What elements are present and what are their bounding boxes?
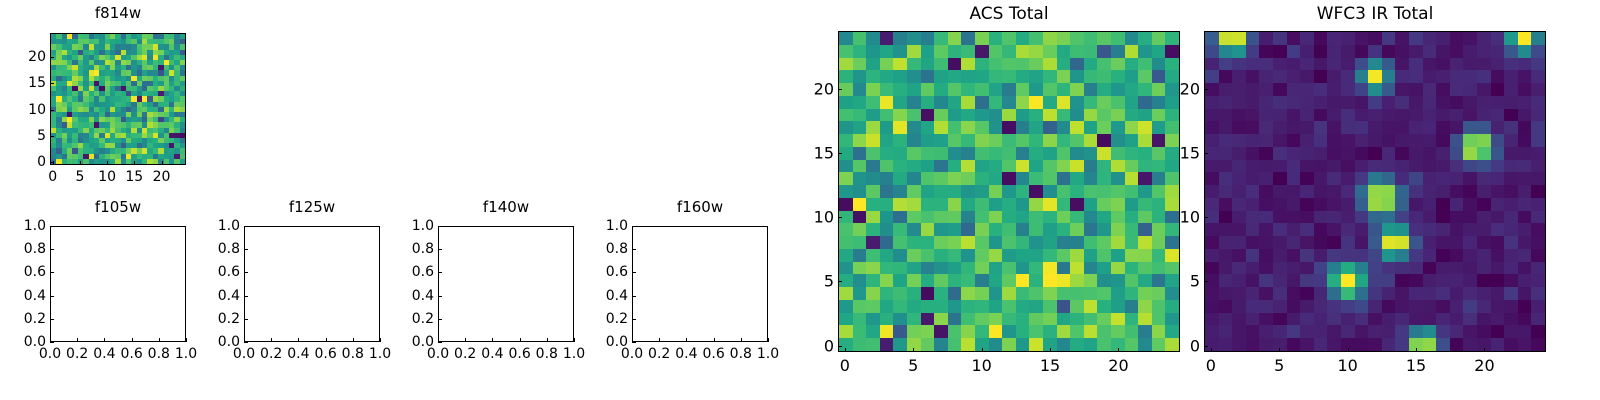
- heatmap-wfc3-total: [1205, 32, 1545, 351]
- axes-f140w: [438, 226, 574, 342]
- xtick-label: 20: [153, 169, 171, 185]
- ytick-label: 0.8: [8, 241, 46, 257]
- ytick-mark: [244, 342, 248, 343]
- ytick-label: 10: [796, 208, 834, 227]
- xtick-label: 5: [1274, 356, 1284, 375]
- ytick-label: 0.8: [202, 241, 240, 257]
- xtick-label: 0.4: [287, 346, 309, 362]
- panel-acs-total: ACS Total 0510152005101520: [838, 2, 1180, 396]
- ytick-label: 5: [8, 128, 46, 144]
- xtick-label: 0.6: [314, 346, 336, 362]
- ytick-label: 0.4: [396, 288, 434, 304]
- ytick-label: 0.0: [8, 334, 46, 350]
- xtick-label: 0.2: [648, 346, 670, 362]
- xtick-label: 10: [98, 169, 116, 185]
- ytick-mark: [838, 89, 842, 90]
- ytick-label: 5: [1162, 272, 1200, 291]
- ytick-mark: [438, 319, 442, 320]
- axes-acs-total: [838, 31, 1180, 352]
- heatmap-acs-total: [839, 32, 1179, 351]
- xtick-label: 0.8: [730, 346, 752, 362]
- xtick-mark: [80, 161, 81, 165]
- ytick-label: 0.6: [590, 264, 628, 280]
- xtick-label: 0.6: [508, 346, 530, 362]
- xtick-mark: [353, 338, 354, 342]
- ytick-mark: [632, 342, 636, 343]
- ytick-mark: [50, 249, 54, 250]
- xtick-label: 1.0: [757, 346, 779, 362]
- ytick-label: 0.0: [590, 334, 628, 350]
- ytick-mark: [244, 319, 248, 320]
- xtick-label: 0: [1206, 356, 1216, 375]
- xtick-mark: [574, 338, 575, 342]
- ytick-mark: [1204, 346, 1208, 347]
- ytick-mark: [50, 342, 54, 343]
- xtick-label: 0.6: [702, 346, 724, 362]
- ytick-mark: [50, 57, 54, 58]
- ytick-label: 0.2: [590, 311, 628, 327]
- ytick-mark: [1204, 281, 1208, 282]
- xtick-mark: [547, 338, 548, 342]
- ytick-mark: [1204, 89, 1208, 90]
- panel-title-f814w: f814w: [50, 4, 186, 22]
- ytick-mark: [632, 296, 636, 297]
- matplotlib-figure: f814w 0510152005101520 f105w 0.00.20.40.…: [0, 0, 1600, 400]
- panel-f140w: f140w 0.00.20.40.60.81.00.00.20.40.60.81…: [438, 195, 574, 395]
- axes-f125w: [244, 226, 380, 342]
- ytick-mark: [838, 217, 842, 218]
- ytick-label: 0.6: [396, 264, 434, 280]
- xtick-mark: [134, 161, 135, 165]
- ytick-label: 1.0: [202, 218, 240, 234]
- xtick-mark: [1348, 348, 1349, 352]
- ytick-mark: [244, 272, 248, 273]
- xtick-label: 10: [1337, 356, 1357, 375]
- panel-f105w: f105w 0.00.20.40.60.81.00.00.20.40.60.81…: [50, 195, 186, 395]
- ytick-label: 10: [8, 102, 46, 118]
- ytick-label: 1.0: [396, 218, 434, 234]
- xtick-mark: [465, 338, 466, 342]
- xtick-label: 10: [971, 356, 991, 375]
- xtick-mark: [1050, 348, 1051, 352]
- xtick-mark: [326, 338, 327, 342]
- xtick-label: 0: [48, 169, 57, 185]
- ytick-label: 0: [1162, 336, 1200, 355]
- ytick-label: 20: [796, 79, 834, 98]
- ytick-mark: [244, 296, 248, 297]
- ytick-mark: [50, 110, 54, 111]
- xtick-label: 0.8: [536, 346, 558, 362]
- ytick-mark: [50, 272, 54, 273]
- ytick-mark: [632, 226, 636, 227]
- ytick-mark: [50, 162, 54, 163]
- ytick-label: 0.0: [202, 334, 240, 350]
- ytick-mark: [438, 272, 442, 273]
- ytick-mark: [1204, 153, 1208, 154]
- xtick-label: 0.4: [675, 346, 697, 362]
- xtick-mark: [186, 338, 187, 342]
- ytick-label: 20: [8, 49, 46, 65]
- xtick-label: 1.0: [369, 346, 391, 362]
- xtick-label: 0: [840, 356, 850, 375]
- xtick-mark: [768, 338, 769, 342]
- ytick-mark: [838, 153, 842, 154]
- xtick-label: 15: [125, 169, 143, 185]
- ytick-mark: [632, 249, 636, 250]
- xtick-mark: [380, 338, 381, 342]
- panel-f814w: f814w 0510152005101520: [50, 2, 186, 192]
- ytick-mark: [632, 319, 636, 320]
- ytick-label: 0.4: [8, 288, 46, 304]
- ytick-mark: [438, 249, 442, 250]
- xtick-label: 0.4: [481, 346, 503, 362]
- ytick-label: 0.8: [590, 241, 628, 257]
- xtick-mark: [107, 161, 108, 165]
- xtick-label: 1.0: [175, 346, 197, 362]
- xtick-label: 0.4: [93, 346, 115, 362]
- ytick-mark: [632, 272, 636, 273]
- xtick-mark: [104, 338, 105, 342]
- ytick-label: 15: [1162, 143, 1200, 162]
- xtick-mark: [1416, 348, 1417, 352]
- xtick-mark: [686, 338, 687, 342]
- ytick-mark: [838, 281, 842, 282]
- ytick-mark: [50, 83, 54, 84]
- panel-f125w: f125w 0.00.20.40.60.81.00.00.20.40.60.81…: [244, 195, 380, 395]
- heatmap-f814w: [51, 34, 185, 164]
- panel-title-f160w: f160w: [632, 198, 768, 216]
- xtick-label: 0.2: [454, 346, 476, 362]
- xtick-mark: [159, 338, 160, 342]
- ytick-mark: [244, 249, 248, 250]
- xtick-mark: [132, 338, 133, 342]
- xtick-mark: [741, 338, 742, 342]
- ytick-label: 0.2: [396, 311, 434, 327]
- xtick-mark: [77, 338, 78, 342]
- xtick-mark: [659, 338, 660, 342]
- axes-f814w: [50, 33, 186, 165]
- ytick-label: 10: [1162, 208, 1200, 227]
- xtick-label: 20: [1474, 356, 1494, 375]
- ytick-mark: [1204, 217, 1208, 218]
- ytick-label: 0: [796, 336, 834, 355]
- panel-title-f140w: f140w: [438, 198, 574, 216]
- xtick-label: 15: [1406, 356, 1426, 375]
- xtick-mark: [913, 348, 914, 352]
- ytick-label: 15: [8, 75, 46, 91]
- xtick-mark: [845, 348, 846, 352]
- xtick-mark: [714, 338, 715, 342]
- xtick-label: 5: [908, 356, 918, 375]
- xtick-mark: [982, 348, 983, 352]
- ytick-mark: [50, 136, 54, 137]
- xtick-label: 20: [1108, 356, 1128, 375]
- panel-f160w: f160w 0.00.20.40.60.81.00.00.20.40.60.81…: [632, 195, 768, 395]
- ytick-label: 0.0: [396, 334, 434, 350]
- ytick-label: 0.6: [8, 264, 46, 280]
- xtick-mark: [520, 338, 521, 342]
- axes-f160w: [632, 226, 768, 342]
- ytick-mark: [438, 296, 442, 297]
- ytick-label: 0.6: [202, 264, 240, 280]
- ytick-mark: [244, 226, 248, 227]
- xtick-label: 0.6: [120, 346, 142, 362]
- axes-wfc3-total: [1204, 31, 1546, 352]
- xtick-mark: [1211, 348, 1212, 352]
- xtick-label: 0.8: [148, 346, 170, 362]
- ytick-label: 5: [796, 272, 834, 291]
- ytick-mark: [838, 346, 842, 347]
- xtick-mark: [162, 161, 163, 165]
- panel-title-acs-total: ACS Total: [838, 4, 1180, 24]
- panel-title-f125w: f125w: [244, 198, 380, 216]
- xtick-mark: [271, 338, 272, 342]
- panel-title-f105w: f105w: [50, 198, 186, 216]
- xtick-mark: [1279, 348, 1280, 352]
- xtick-label: 1.0: [563, 346, 585, 362]
- ytick-mark: [50, 226, 54, 227]
- ytick-label: 0.2: [202, 311, 240, 327]
- ytick-label: 1.0: [8, 218, 46, 234]
- xtick-label: 15: [1040, 356, 1060, 375]
- xtick-mark: [492, 338, 493, 342]
- xtick-mark: [1484, 348, 1485, 352]
- panel-wfc3-total: WFC3 IR Total 0510152005101520: [1204, 2, 1546, 396]
- xtick-label: 0.2: [66, 346, 88, 362]
- ytick-label: 0.2: [8, 311, 46, 327]
- ytick-mark: [50, 296, 54, 297]
- ytick-label: 15: [796, 143, 834, 162]
- ytick-label: 1.0: [590, 218, 628, 234]
- panel-title-wfc3-total: WFC3 IR Total: [1204, 4, 1546, 24]
- axes-f105w: [50, 226, 186, 342]
- xtick-label: 5: [75, 169, 84, 185]
- xtick-label: 0.8: [342, 346, 364, 362]
- ytick-mark: [438, 226, 442, 227]
- ytick-label: 20: [1162, 79, 1200, 98]
- ytick-mark: [50, 319, 54, 320]
- ytick-label: 0: [8, 154, 46, 170]
- xtick-mark: [298, 338, 299, 342]
- ytick-label: 0.8: [396, 241, 434, 257]
- ytick-label: 0.4: [590, 288, 628, 304]
- ytick-mark: [438, 342, 442, 343]
- xtick-mark: [1118, 348, 1119, 352]
- ytick-label: 0.4: [202, 288, 240, 304]
- xtick-label: 0.2: [260, 346, 282, 362]
